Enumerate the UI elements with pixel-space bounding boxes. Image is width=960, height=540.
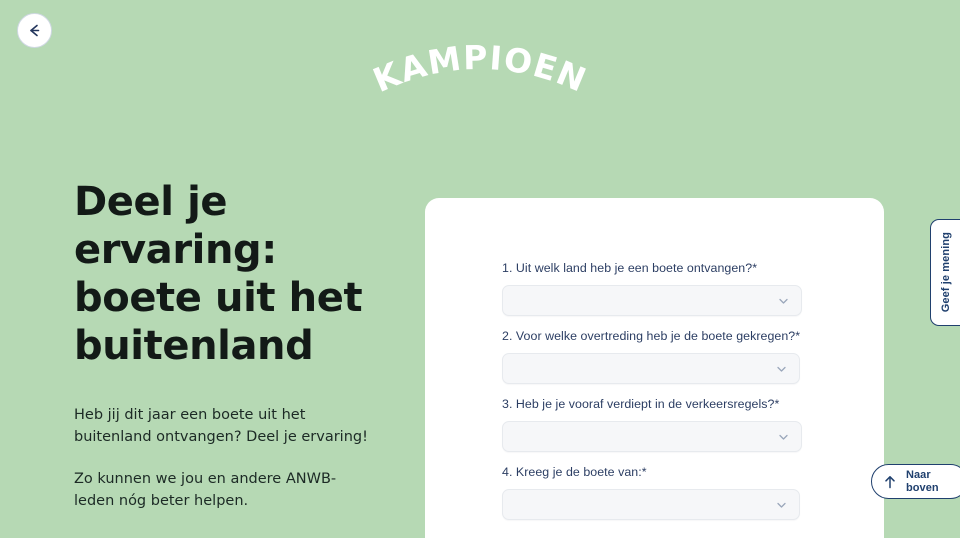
question-4-dropdown[interactable] (502, 489, 800, 520)
survey-form: 1. Uit welk land heb je een boete ontvan… (425, 198, 884, 520)
question-label-4: 4. Kreeg je de boete van:* (502, 464, 884, 480)
question-block-3: 3. Heb je je vooraf verdiept in de verke… (425, 396, 884, 452)
question-block-2: 2. Voor welke overtreding heb je de boet… (425, 328, 884, 384)
chevron-down-icon (775, 498, 788, 511)
chevron-down-icon (775, 362, 788, 375)
scroll-to-top-label-line-2: boven (906, 482, 939, 494)
question-3-dropdown[interactable] (502, 421, 802, 452)
question-block-1: 1. Uit welk land heb je een boete ontvan… (425, 260, 884, 316)
question-label-2: 2. Voor welke overtreding heb je de boet… (502, 328, 884, 344)
logo-text: KAMPIOEN (367, 42, 592, 100)
page-root: KAMPIOEN Deel je ervaring: boete uit het… (0, 0, 960, 540)
scroll-to-top-label: Naar boven (906, 469, 939, 494)
page-title-line-2: boete uit het (74, 275, 362, 321)
page-title-line-1: Deel je ervaring: (74, 179, 277, 273)
kampioen-logo: KAMPIOEN (0, 42, 960, 112)
chevron-down-icon (777, 430, 790, 443)
feedback-tab[interactable]: Geef je mening (930, 219, 960, 326)
question-label-1: 1. Uit welk land heb je een boete ontvan… (502, 260, 884, 276)
chevron-down-icon (777, 294, 790, 307)
arrow-left-icon (26, 22, 43, 39)
scroll-to-top-button[interactable]: Naar boven (871, 464, 960, 499)
question-1-dropdown[interactable] (502, 285, 802, 316)
intro-paragraph-1: Heb jij dit jaar een boete uit het buite… (74, 404, 374, 448)
question-label-3: 3. Heb je je vooraf verdiept in de verke… (502, 396, 884, 412)
page-title: Deel je ervaring: boete uit het buitenla… (74, 178, 404, 370)
hero-column: Deel je ervaring: boete uit het buitenla… (74, 178, 404, 512)
scroll-to-top-label-line-1: Naar (906, 469, 931, 481)
arrow-up-icon (879, 471, 901, 493)
intro-paragraph-2: Zo kunnen we jou en andere ANWB-leden nó… (74, 468, 374, 512)
question-block-4: 4. Kreeg je de boete van:* (425, 464, 884, 520)
survey-form-card: 1. Uit welk land heb je een boete ontvan… (425, 198, 884, 540)
feedback-tab-label: Geef je mening (940, 232, 952, 312)
page-title-line-3: buitenland (74, 323, 313, 369)
back-button[interactable] (17, 13, 52, 48)
question-2-dropdown[interactable] (502, 353, 800, 384)
